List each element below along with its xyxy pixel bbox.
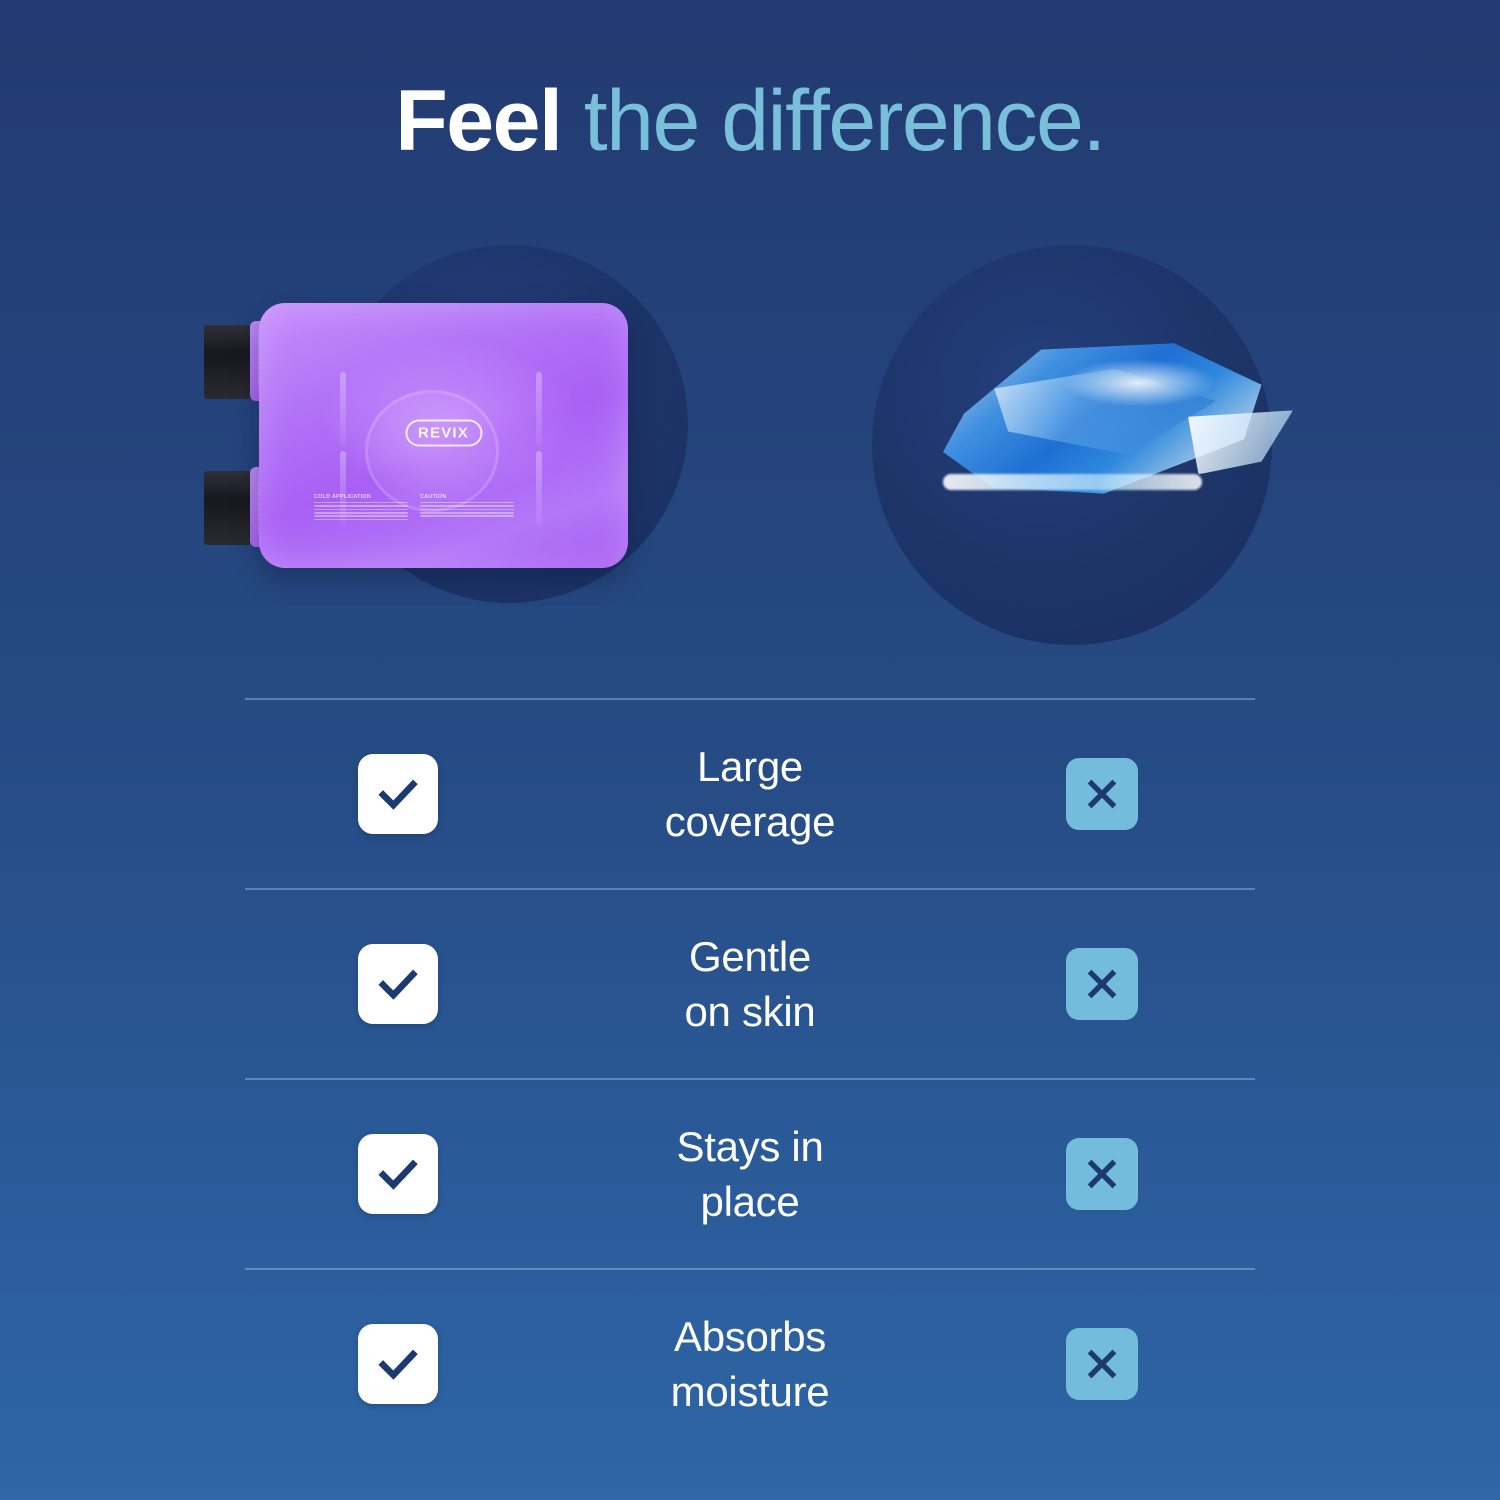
ours-cell bbox=[245, 754, 551, 834]
pack-rib bbox=[340, 372, 346, 446]
theirs-cell bbox=[949, 758, 1255, 830]
feature-label-cell: Large coverage bbox=[551, 739, 949, 850]
gel-corner-flap bbox=[1188, 410, 1293, 474]
check-icon bbox=[358, 1324, 438, 1404]
pack-rib bbox=[536, 451, 542, 525]
headline-light: the difference. bbox=[584, 73, 1105, 169]
headline-strong: Feel bbox=[395, 73, 561, 169]
theirs-cell bbox=[949, 948, 1255, 1020]
comparison-table: Large coverageGentle on skinStays in pla… bbox=[245, 698, 1255, 1458]
feature-label: Stays in place bbox=[551, 1119, 949, 1230]
fineprint-line bbox=[314, 512, 408, 514]
feature-label: Absorbs moisture bbox=[551, 1309, 949, 1420]
fineprint-line bbox=[314, 502, 408, 504]
comparison-row: Absorbs moisture bbox=[245, 1270, 1255, 1458]
caution-column: CAUTION bbox=[420, 494, 514, 522]
feature-label-cell: Stays in place bbox=[551, 1119, 949, 1230]
comparison-row: Stays in place bbox=[245, 1080, 1255, 1268]
cross-icon bbox=[1066, 758, 1138, 830]
gel-bottom-edge bbox=[943, 474, 1202, 490]
ours-cell bbox=[245, 944, 551, 1024]
fineprint-line bbox=[420, 515, 514, 517]
caution-heading: CAUTION bbox=[420, 494, 514, 500]
theirs-cell bbox=[949, 1328, 1255, 1400]
cold-application-heading: COLD APPLICATION bbox=[314, 494, 408, 500]
feature-label: Large coverage bbox=[551, 739, 949, 850]
fineprint-line bbox=[314, 509, 408, 511]
feature-label: Gentle on skin bbox=[551, 929, 949, 1040]
ours-cell bbox=[245, 1324, 551, 1404]
fineprint-line bbox=[420, 509, 514, 511]
fineprint-line bbox=[420, 505, 514, 507]
pack-instructions-block: COLD APPLICATION CAUTION bbox=[314, 494, 514, 522]
ours-cell bbox=[245, 1134, 551, 1214]
cross-icon bbox=[1066, 1328, 1138, 1400]
comparison-row: Gentle on skin bbox=[245, 890, 1255, 1078]
revix-ice-pack-image: REVIX COLD APPLICATION CAUTION bbox=[204, 303, 628, 568]
fineprint-line bbox=[420, 512, 514, 514]
theirs-cell bbox=[949, 1138, 1255, 1210]
cross-icon bbox=[1066, 1138, 1138, 1210]
gel-highlight bbox=[1062, 359, 1216, 407]
cross-icon bbox=[1066, 948, 1138, 1020]
fineprint-line bbox=[314, 515, 408, 517]
cold-application-column: COLD APPLICATION bbox=[314, 494, 408, 522]
ice-pack-body: REVIX COLD APPLICATION CAUTION bbox=[259, 303, 628, 568]
pack-rib bbox=[536, 372, 542, 446]
feature-label-cell: Gentle on skin bbox=[551, 929, 949, 1040]
revix-brand-logo: REVIX bbox=[405, 419, 482, 446]
hero-images: REVIX COLD APPLICATION CAUTION bbox=[0, 235, 1500, 655]
comparison-row: Large coverage bbox=[245, 700, 1255, 888]
fineprint-line bbox=[314, 519, 408, 521]
check-icon bbox=[358, 944, 438, 1024]
competitor-gel-pack-image bbox=[922, 340, 1272, 500]
fineprint-line bbox=[314, 505, 408, 507]
fineprint-line bbox=[420, 502, 514, 504]
check-icon bbox=[358, 754, 438, 834]
page-title: Feel the difference. bbox=[0, 78, 1500, 164]
feature-label-cell: Absorbs moisture bbox=[551, 1309, 949, 1420]
check-icon bbox=[358, 1134, 438, 1214]
